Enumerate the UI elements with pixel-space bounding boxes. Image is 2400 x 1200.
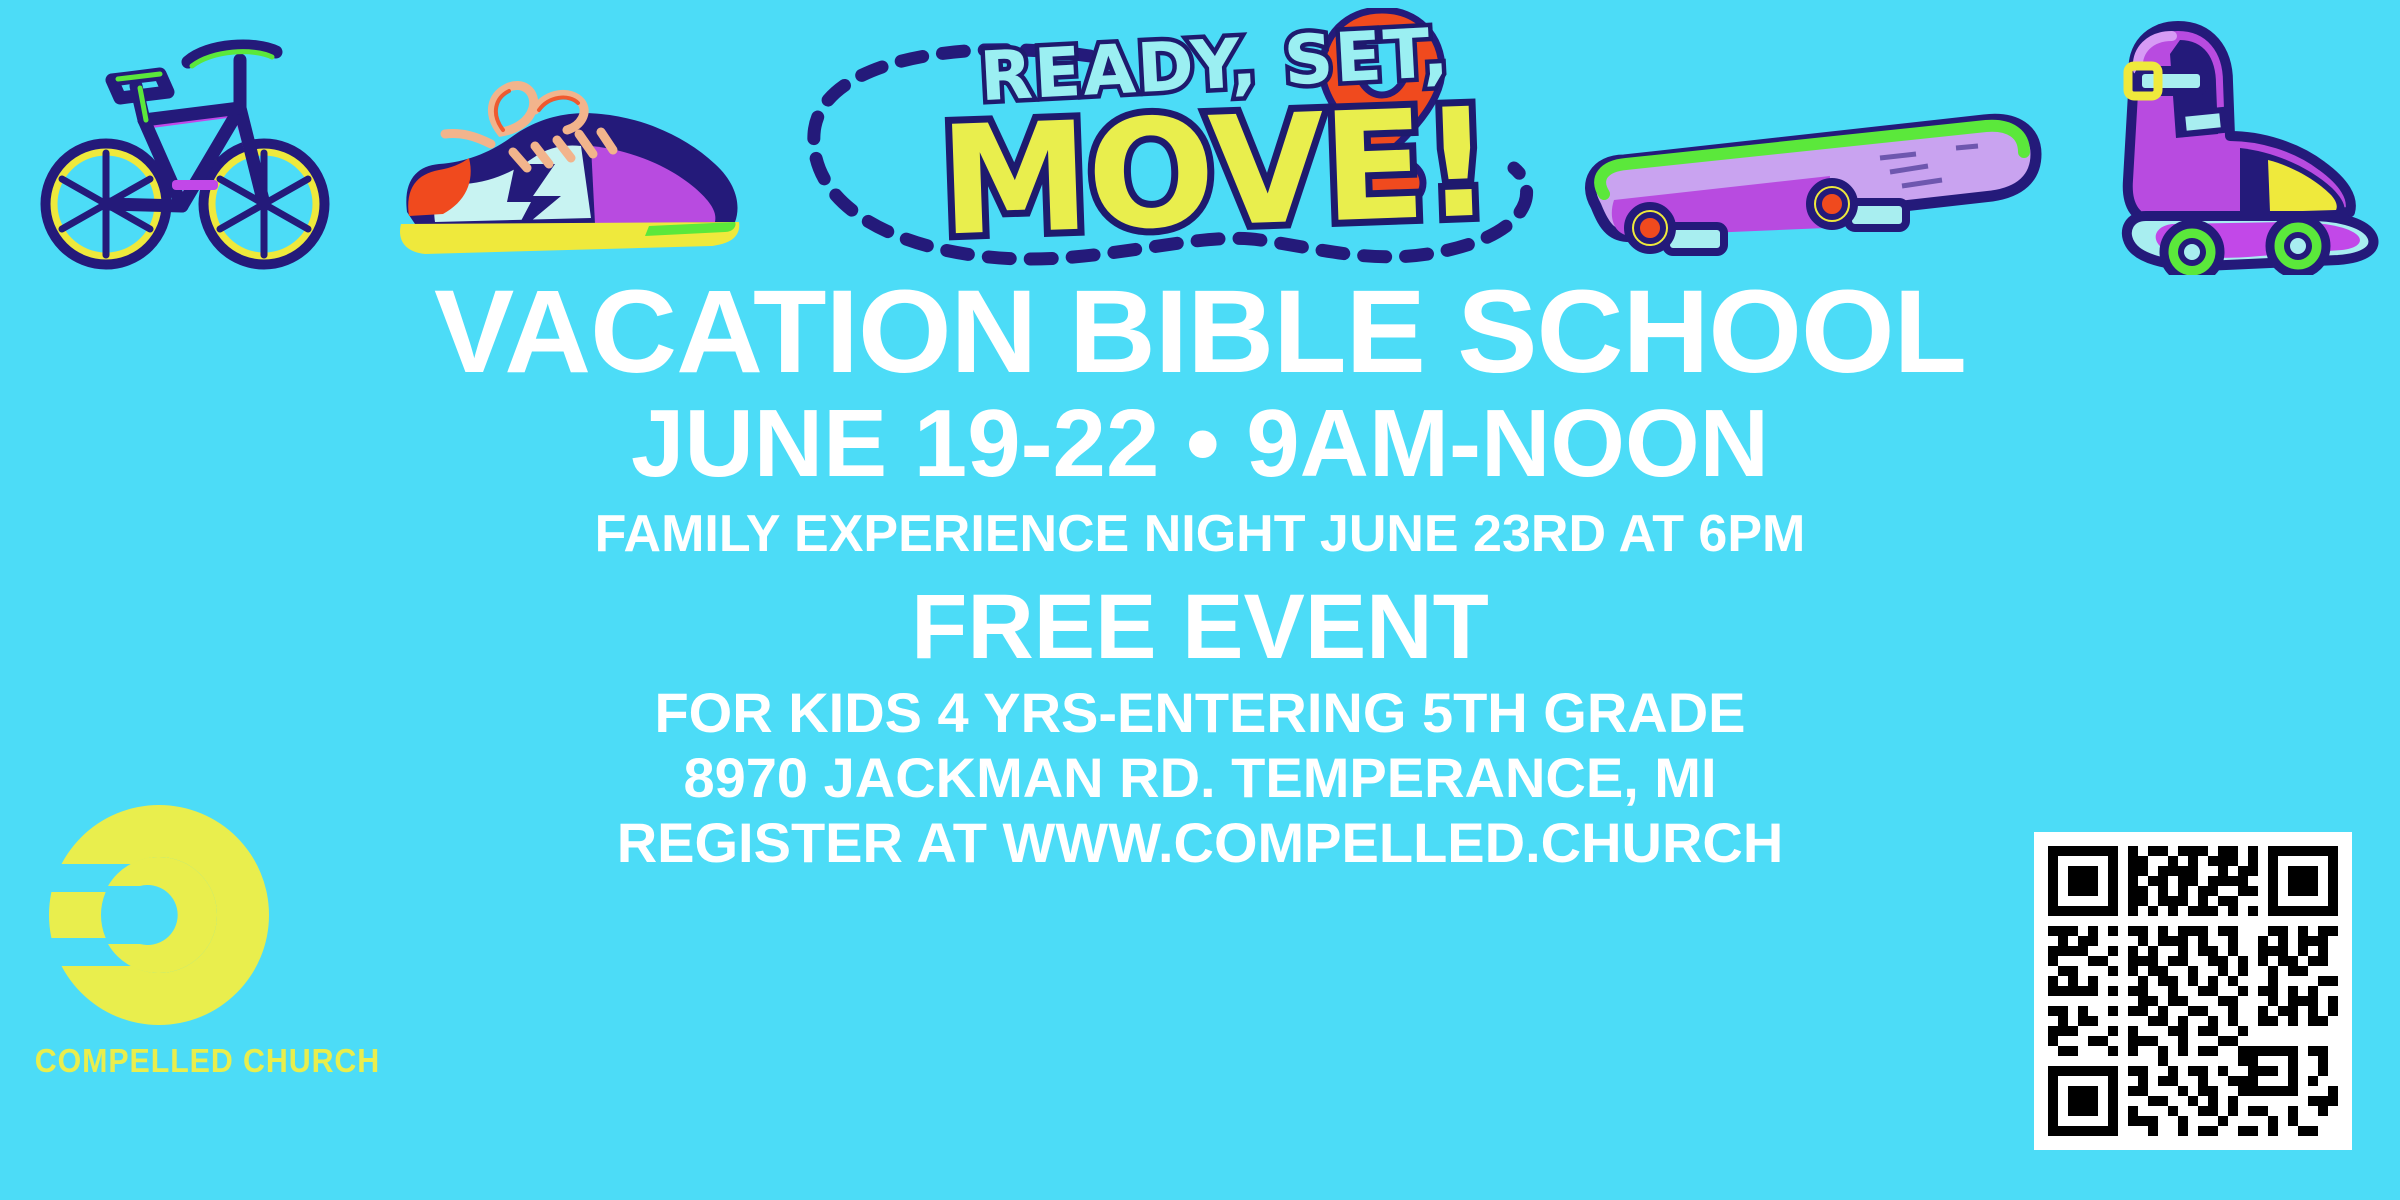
headline-block: VACATION BIBLE SCHOOL JUNE 19-22 • 9AM-N… xyxy=(0,275,2400,870)
skateboard-illustration xyxy=(1580,60,2050,290)
inline-skate-illustration xyxy=(2120,10,2400,275)
church-logo: COMPELLED CHURCH xyxy=(24,800,294,1080)
address-line: 8970 JACKMAN RD. TEMPERANCE, MI xyxy=(0,751,2400,806)
family-night-line: FAMILY EXPERIENCE NIGHT JUNE 23RD AT 6PM xyxy=(0,509,2400,560)
compelled-c-mark-icon xyxy=(44,800,274,1030)
sneaker-illustration xyxy=(395,40,745,270)
logo-line-move: MOVE! xyxy=(787,71,1643,275)
bmx-bike-illustration xyxy=(40,8,350,276)
page-title: VACATION BIBLE SCHOOL xyxy=(0,275,2400,391)
qr-code-icon[interactable] xyxy=(2034,832,2352,1150)
ready-set-move-logo: READY, SET, MOVE! xyxy=(790,8,1640,273)
event-dates: JUNE 19-22 • 9AM-NOON xyxy=(0,397,2400,491)
vbs-promo-poster: READY, SET, MOVE! xyxy=(0,0,2400,1200)
age-range-line: FOR KIDS 4 YRS-ENTERING 5TH GRADE xyxy=(0,686,2400,741)
free-event-badge: FREE EVENT xyxy=(0,582,2400,672)
church-wordmark: COMPELLED CHURCH xyxy=(35,1042,283,1080)
